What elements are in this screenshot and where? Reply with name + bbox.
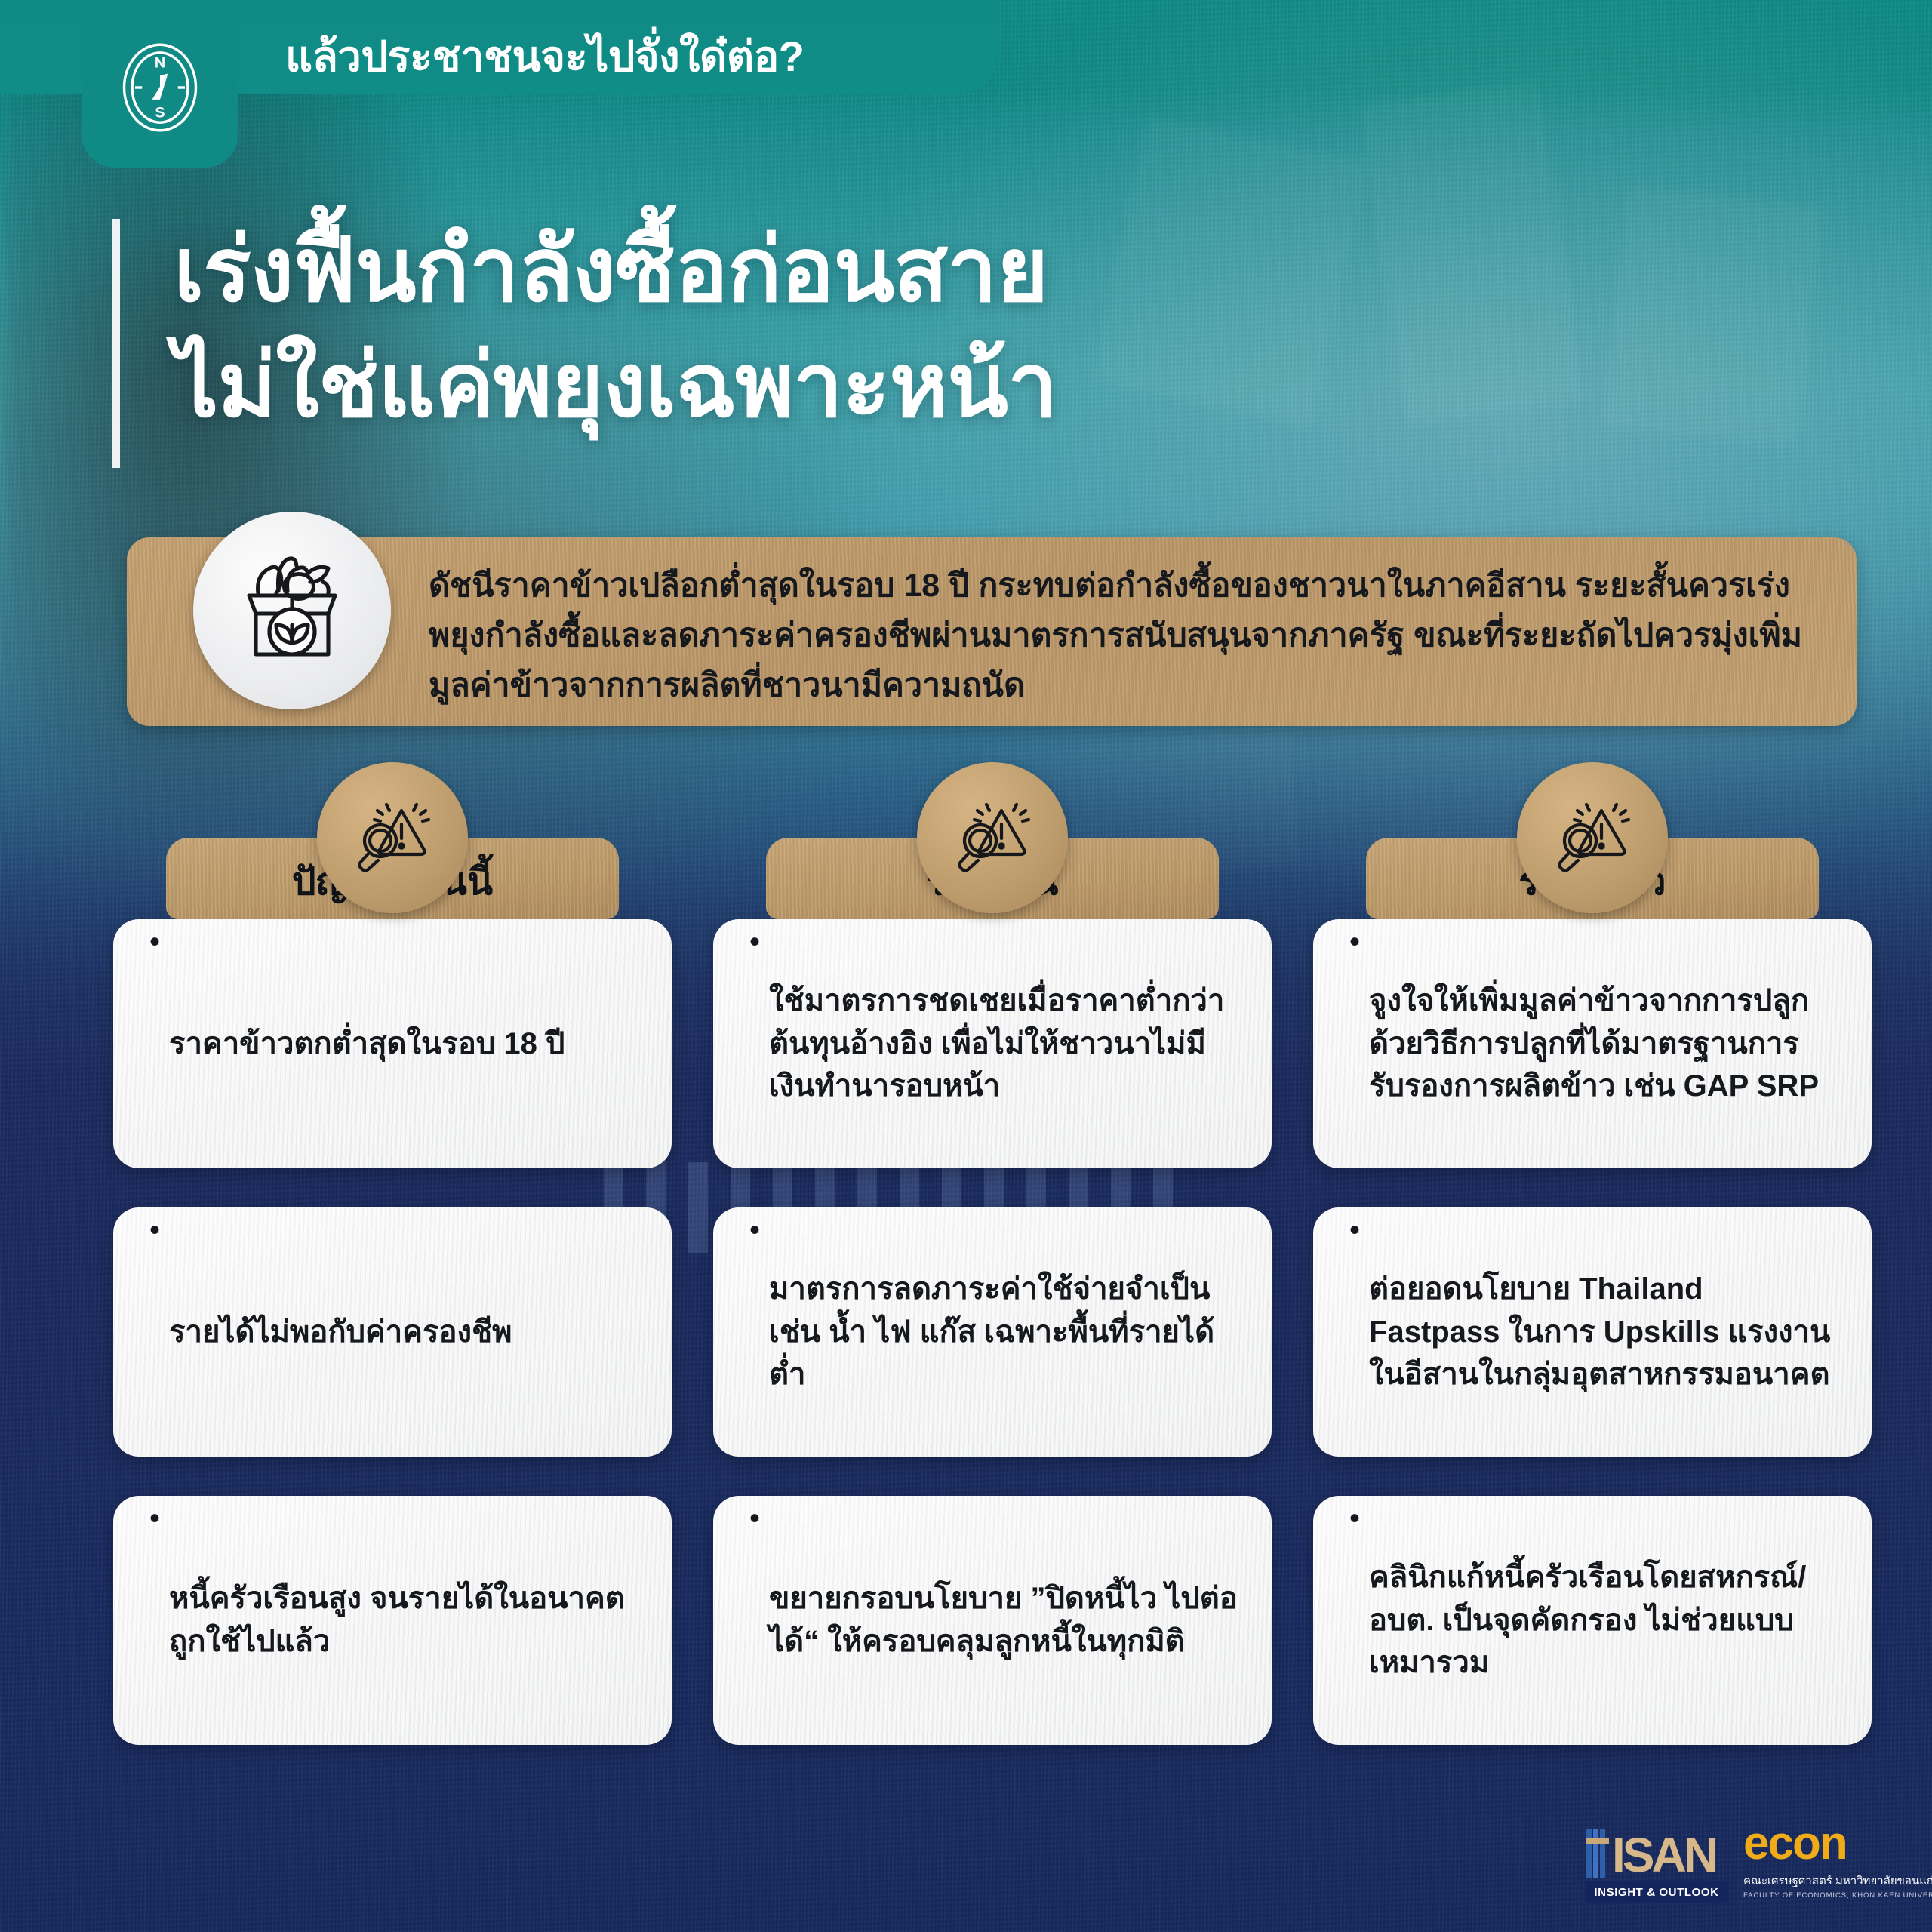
isan-tagline: INSIGHT & OUTLOOK — [1586, 1881, 1727, 1903]
list-item: • รายได้ไม่พอกับค่าครองชีพ — [113, 1207, 672, 1457]
svg-text:S: S — [155, 104, 165, 121]
list-item: • ต่อยอดนโยบาย Thailand Fastpass ในการ U… — [1313, 1207, 1872, 1457]
econ-logo: econ คณะเศรษฐศาสตร์ มหาวิทยาลัยขอนแก่น F… — [1743, 1820, 1932, 1900]
bullet-icon: • — [149, 921, 160, 964]
column-1-cards: • ราคาข้าวตกต่ำสุดในรอบ 18 ปี • รายได้ไม… — [113, 919, 672, 1784]
bullet-icon: • — [149, 1497, 160, 1540]
list-item: • ขยายกรอบนโยบาย ”ปิดหนี้ไว ไปต่อได้“ ให… — [713, 1496, 1272, 1745]
bullet-icon: • — [1349, 1209, 1360, 1252]
footer-logos: ISAN INSIGHT & OUTLOOK econ คณะเศรษฐศาสต… — [1570, 1825, 1887, 1923]
column-long-term: ระยะยาว • จูงใจให้เพิ่มมูลค่าข้าวจากการป… — [1313, 762, 1872, 1834]
card-text: ต่อยอดนโยบาย Thailand Fastpass ในการ Ups… — [1369, 1268, 1838, 1396]
magnifier-warning-icon — [1547, 791, 1638, 885]
list-item: • มาตรการลดภาระค่าใช้จ่ายจำเป็น เช่น น้ำ… — [713, 1207, 1272, 1457]
column-badge-1 — [317, 762, 468, 913]
compass-icon: N S — [110, 38, 210, 141]
bullet-icon: • — [749, 921, 760, 964]
bullet-icon: • — [1349, 1497, 1360, 1540]
column-3-cards: • จูงใจให้เพิ่มมูลค่าข้าวจากการปลูกด้วยว… — [1313, 919, 1872, 1784]
summary-icon-badge — [193, 512, 391, 709]
bullet-icon: • — [1349, 921, 1360, 964]
column-2-cards: • ใช้มาตรการชดเชยเมื่อราคาต่ำกว่าต้นทุนอ… — [713, 919, 1272, 1784]
header-title: แล้วประชาชนจะไปจั่งใด๋ต่อ? — [285, 23, 804, 90]
title-accent-bar — [112, 219, 120, 468]
list-item: • ราคาข้าวตกต่ำสุดในรอบ 18 ปี — [113, 919, 672, 1168]
card-text: หนี้ครัวเรือนสูง จนรายได้ในอนาคตถูกใช้ไป… — [169, 1577, 638, 1663]
list-item: • จูงใจให้เพิ่มมูลค่าข้าวจากการปลูกด้วยว… — [1313, 919, 1872, 1168]
compass-logo-badge: N S — [82, 11, 238, 168]
card-text: ขยายกรอบนโยบาย ”ปิดหนี้ไว ไปต่อได้“ ให้ค… — [769, 1577, 1238, 1663]
summary-text: ดัชนีราคาข้าวเปลือกต่ำสุดในรอบ 18 ปี กระ… — [429, 561, 1810, 710]
list-item: • ใช้มาตรการชดเชยเมื่อราคาต่ำกว่าต้นทุนอ… — [713, 919, 1272, 1168]
magnifier-warning-icon — [347, 791, 438, 885]
card-text: มาตรการลดภาระค่าใช้จ่ายจำเป็น เช่น น้ำ ไ… — [769, 1268, 1238, 1396]
card-text: รายได้ไม่พอกับค่าครองชีพ — [169, 1311, 512, 1354]
list-item: • คลินิกแก้หนี้ครัวเรือนโดยสหกรณ์/อบต. เ… — [1313, 1496, 1872, 1745]
column-badge-3 — [1517, 762, 1668, 913]
isan-logo-text: ISAN — [1612, 1828, 1715, 1882]
column-problems: ปัญหาตอนนี้ • ราคาข้าวตกต่ำสุดในรอบ 18 ป… — [113, 762, 672, 1834]
card-text: ราคาข้าวตกต่ำสุดในรอบ 18 ปี — [169, 1023, 565, 1066]
econ-faculty-english: FACULTY OF ECONOMICS, KHON KAEN UNIVERSI… — [1743, 1891, 1932, 1900]
title-line-1: เร่งฟื้นกำลังซื้อก่อนสาย — [174, 213, 1395, 328]
list-item: • หนี้ครัวเรือนสูง จนรายได้ในอนาคตถูกใช้… — [113, 1496, 672, 1745]
column-badge-2 — [917, 762, 1068, 913]
bullet-icon: • — [749, 1209, 760, 1252]
title-block: เร่งฟื้นกำลังซื้อก่อนสาย ไม่ใช่แค่พยุงเฉ… — [112, 213, 1395, 445]
title-line-2: ไม่ใช่แค่พยุงเฉพาะหน้า — [174, 328, 1395, 444]
bullet-icon: • — [149, 1209, 160, 1252]
column-short-term: ระยะสั้น • ใช้มาตรการชดเชยเมื่อราคาต่ำกว… — [713, 762, 1272, 1834]
card-text: คลินิกแก้หนี้ครัวเรือนโดยสหกรณ์/อบต. เป็… — [1369, 1556, 1838, 1684]
card-text: ใช้มาตรการชดเชยเมื่อราคาต่ำกว่าต้นทุนอ้า… — [769, 980, 1238, 1108]
columns-container: ปัญหาตอนนี้ • ราคาข้าวตกต่ำสุดในรอบ 18 ป… — [113, 762, 1872, 1834]
econ-faculty-thai: คณะเศรษฐศาสตร์ มหาวิทยาลัยขอนแก่น — [1743, 1872, 1932, 1890]
econ-logo-text: econ — [1743, 1820, 1932, 1867]
card-text: จูงใจให้เพิ่มมูลค่าข้าวจากการปลูกด้วยวิธ… — [1369, 980, 1838, 1108]
magnifier-warning-icon — [947, 791, 1038, 885]
grocery-box-icon — [224, 541, 360, 681]
svg-text:N: N — [155, 54, 165, 71]
bullet-icon: • — [749, 1497, 760, 1540]
summary-box: ดัชนีราคาข้าวเปลือกต่ำสุดในรอบ 18 ปี กระ… — [127, 537, 1857, 726]
